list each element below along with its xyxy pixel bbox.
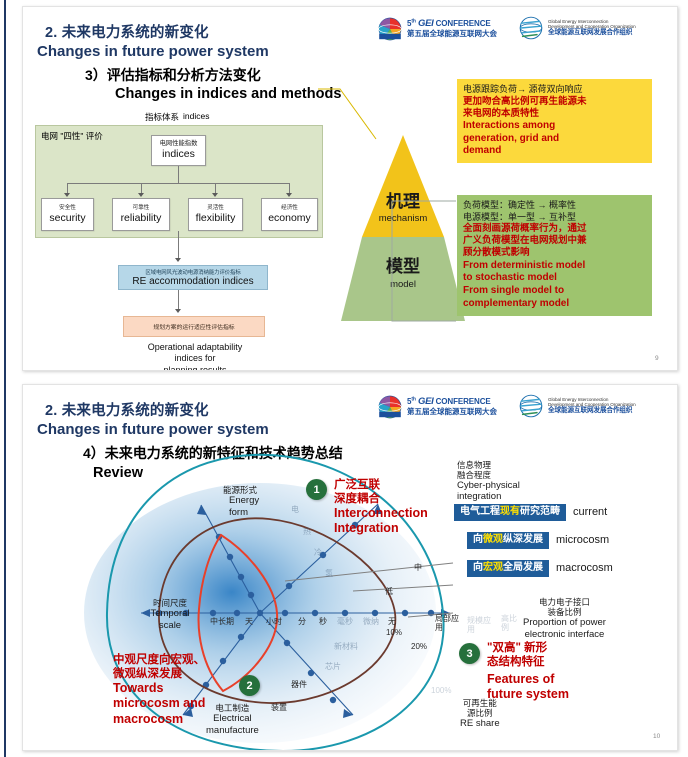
flowchart-root-cn: 电网性能指数 xyxy=(160,141,198,148)
axis-mfg-cn: 电工制造 xyxy=(206,703,259,713)
re-accommodation-cn: 区域电网风光波动电源消纳能力评价指标 xyxy=(145,268,240,276)
re-accommodation-en: RE accommodation indices xyxy=(132,276,253,287)
axis-cyber-cn: 信息物理 融合程度 xyxy=(457,460,520,480)
tick-temporal-6: 微纳 xyxy=(363,618,379,627)
child-reliability-en: reliability xyxy=(121,212,162,224)
axis-label-re-share: 可再生能 源比例 RE share xyxy=(460,698,500,730)
left-navy-rail xyxy=(4,0,6,757)
callout-top-en-2: demand xyxy=(463,145,646,158)
ann2-cn-0: 中观尺度向宏观、 xyxy=(113,653,205,667)
axis-re-en: RE share xyxy=(460,718,500,729)
ann2-cn-1: 微观纵深发展 xyxy=(113,667,205,681)
ann2-en-0: Towards xyxy=(113,681,205,696)
tick-mfg-chip: 芯片 xyxy=(325,663,341,672)
flowchart-child-security: 安全性 security xyxy=(41,198,94,231)
ann1-en-0: Interconnection xyxy=(334,506,428,521)
legend1-hl: 微观 xyxy=(483,534,503,545)
legend-chip-current: 电气工程现有研究范畴 xyxy=(454,504,566,521)
ann1-cn-0: 广泛互联 xyxy=(334,478,428,492)
axis-energy-cn: 能源形式 xyxy=(223,485,259,495)
gei-logo-line2: 第五届全球能源互联网大会 xyxy=(407,30,497,38)
slide1-title-en: Changes in future power system xyxy=(37,43,269,60)
tick-cyber-zhong: 中 xyxy=(414,564,422,573)
tick-temporal-2: 小时 xyxy=(266,618,282,627)
ann3-en-0: Features of xyxy=(487,672,569,687)
legend-chip-macrocosm: 向宏观全局发展 xyxy=(467,560,549,577)
badge-3: 3 xyxy=(459,643,480,664)
axis-pe-en: Proportion of power electronic interface xyxy=(523,617,606,640)
callout-bottom-en-2: From single model to xyxy=(463,285,646,298)
conn-bus xyxy=(67,183,289,184)
legend0-pre: 电气工程 xyxy=(460,506,500,517)
tick-mfg-device: 器件 xyxy=(291,681,307,690)
tick-pe-10: 10% xyxy=(386,629,402,638)
tick-temporal-4: 秒 xyxy=(319,618,327,627)
legend0-hl: 现有 xyxy=(500,506,520,517)
legend1-post: 纵深发展 xyxy=(503,534,543,545)
ann3-cn-0: "双高" 新形 xyxy=(487,641,569,655)
callout-bottom-green: 负荷模型：确定性 → 概率性 电源模型：单一型 → 互补型 全面刻画源荷概率行为… xyxy=(457,195,652,316)
tick-temporal-1: 天 xyxy=(245,618,253,627)
tick-temporal-5: 毫秒 xyxy=(337,618,353,627)
tick-pe-20: 20% xyxy=(411,643,427,652)
child-flexibility-en: flexibility xyxy=(196,212,236,224)
tick-mfg-equip: 装置 xyxy=(271,704,287,713)
ann3-cn-1: 态结构特征 xyxy=(487,655,569,669)
axis-pe-cn: 电力电子接口 装备比例 xyxy=(523,597,606,617)
tick-pe-high: 高比例 xyxy=(501,615,523,633)
conn-root-down xyxy=(178,166,179,183)
callout-top-cn-0: 电源跟踪负荷→ 源荷双向响应 xyxy=(463,84,646,96)
callout-bottom-red-1: 广义负荷模型在电网规划中兼 xyxy=(463,235,646,247)
legend-en-macrocosm: macrocosm xyxy=(556,562,613,574)
badge-1: 1 xyxy=(306,479,327,500)
geidco-line3: 全球能源互联网发展合作组织 xyxy=(548,29,636,36)
ann2-en-2: macrocosm xyxy=(113,712,205,727)
callout-top-en-0: Interactions among xyxy=(463,120,646,133)
callout-bottom-en-1: to stochastic model xyxy=(463,272,646,285)
tick-energy-re: 热 xyxy=(303,528,311,537)
axis-energy-en: Energy form xyxy=(229,495,259,518)
tick-energy-dian: 电 xyxy=(291,506,299,515)
axis-label-power-electronic: 电力电子接口 装备比例 Proportion of power electron… xyxy=(523,597,606,640)
ann1-cn-1: 深度耦合 xyxy=(334,492,428,506)
legend-row-microcosm: 向微观纵深发展 microcosm xyxy=(467,532,609,549)
arrow-child-4 xyxy=(286,193,292,197)
axis-temporal-en: Temporal scale xyxy=(141,608,199,631)
callout-bottom-red-0: 全面刻画源荷概率行为，通过 xyxy=(463,223,646,235)
axis-label-electrical-manufacture: 电工制造 Electrical manufacture xyxy=(206,703,259,736)
gei-globe-icon xyxy=(378,17,402,41)
arrow-child-1 xyxy=(64,193,70,197)
arrow-to-mid xyxy=(175,258,181,262)
tick-pe-local: 局部应用 xyxy=(435,615,463,633)
conn-to-bottom xyxy=(178,290,179,310)
ann1-en-1: Integration xyxy=(334,521,428,536)
callout-top-yellow: 电源跟踪负荷→ 源荷双向响应 更加吻合高比例可再生能源未 来电网的本质特性 In… xyxy=(457,79,652,163)
conn-to-mid xyxy=(178,231,179,259)
child-economy-en: economy xyxy=(268,212,311,224)
slide1-page-number: 9 xyxy=(655,355,659,362)
geidco-globe-icon xyxy=(519,16,543,40)
legend-row-macrocosm: 向宏观全局发展 macrocosm xyxy=(467,560,613,577)
badge-2: 2 xyxy=(239,675,260,696)
legend-en-microcosm: microcosm xyxy=(556,534,609,546)
flowchart-adaptability-node: 规划方案的运行适应性评估指标 xyxy=(123,316,265,337)
flowchart-re-accommodation-node: 区域电网风光波动电源消纳能力评价指标 RE accommodation indi… xyxy=(118,265,268,290)
axis-label-cyber-physical: 信息物理 融合程度 Cyber-physical integration xyxy=(457,460,520,502)
axis-mfg-en: Electrical manufacture xyxy=(206,713,259,736)
page-root: 2. 未来电力系统的新变化 Changes in future power sy… xyxy=(0,0,688,757)
tick-re-faded: 100% xyxy=(431,687,451,696)
legend2-hl: 宏观 xyxy=(483,562,503,573)
child-security-en: security xyxy=(49,212,85,224)
gei-conference-logo: 5th GEI CONFERENCE 第五届全球能源互联网大会 xyxy=(378,17,497,41)
slide2-page-number: 10 xyxy=(653,733,660,740)
tick-temporal-3: 分 xyxy=(298,618,306,627)
callout-top-red-0: 更加吻合高比例可再生能源未 xyxy=(463,96,646,108)
tick-energy-leng: 冷 xyxy=(314,549,322,558)
callout-bottom-cn-1: 电源模型：单一型 → 互补型 xyxy=(463,212,646,224)
flowchart-group-label: 电网 "四性" 评价 xyxy=(41,130,103,142)
annotation-1: 广泛互联 深度耦合 Interconnection Integration xyxy=(334,478,428,537)
slide-1: 2. 未来电力系统的新变化 Changes in future power sy… xyxy=(22,6,678,371)
axis-cyber-en: Cyber-physical integration xyxy=(457,480,520,502)
callout-bottom-en-0: From deterministic model xyxy=(463,260,646,273)
slide1-title-cn: 2. 未来电力系统的新变化 xyxy=(45,21,209,42)
flowchart-caption-en: indices xyxy=(183,111,209,121)
tick-temporal-0: 中长期 xyxy=(210,618,234,626)
flowchart-child-economy: 经济性 economy xyxy=(261,198,318,231)
flowchart-root-node: 电网性能指数 indices xyxy=(151,135,206,166)
flowchart-root-en: indices xyxy=(162,148,195,160)
arrow-to-bottom xyxy=(175,309,181,313)
slide1-subtitle-en: Changes in indices and methods xyxy=(115,86,341,102)
callout-top-red-1: 来电网的本质特性 xyxy=(463,108,646,120)
legend2-post: 全局发展 xyxy=(503,562,543,573)
adaptability-cn: 规划方案的运行适应性评估指标 xyxy=(153,322,234,331)
tick-cyber-wu: 无 xyxy=(388,618,396,627)
callout-bottom-red-2: 顾分散模式影响 xyxy=(463,247,646,259)
legend-en-current: current xyxy=(573,506,607,518)
flowchart-bottom-caption: Operational adaptability indices for pla… xyxy=(105,342,285,371)
ann3-en-1: future system xyxy=(487,687,569,702)
tick-pe-faded-a: 规模应用 xyxy=(467,617,493,635)
flowchart-child-flexibility: 灵活性 flexibility xyxy=(188,198,243,231)
flowchart-caption-cn: 指标体系 xyxy=(145,111,179,123)
geidco-logo: Global Energy Interconnection Developmen… xyxy=(519,16,636,40)
flowchart-child-reliability: 可靠性 reliability xyxy=(112,198,170,231)
annotation-2: 中观尺度向宏观、 微观纵深发展 Towards microcosm and ma… xyxy=(113,653,205,727)
axis-label-energy-form: 能源形式 Energy form xyxy=(223,485,259,518)
slide1-subtitle-cn: 3）评估指标和分析方法变化 xyxy=(85,65,261,85)
legend2-pre: 向 xyxy=(473,562,483,573)
callout-top-en-1: generation, grid and xyxy=(463,133,646,146)
arrow-child-2 xyxy=(138,193,144,197)
callout-leader-top xyxy=(318,79,468,199)
legend0-post: 研究范畴 xyxy=(520,506,560,517)
arrow-child-3 xyxy=(212,193,218,197)
tick-mfg-newmat: 新材料 xyxy=(334,643,358,652)
callout-bottom-en-3: complementary model xyxy=(463,298,646,311)
legend-row-current: 电气工程现有研究范畴 current xyxy=(454,504,607,521)
axis-label-temporal-scale: 时间尺度 Temporal scale xyxy=(141,598,199,631)
legend1-pre: 向 xyxy=(473,534,483,545)
ann2-en-1: microcosm and xyxy=(113,696,205,711)
axis-temporal-cn: 时间尺度 xyxy=(141,598,199,608)
annotation-3: "双高" 新形 态结构特征 Features of future system xyxy=(487,641,569,703)
callout-bottom-cn-0: 负荷模型：确定性 → 概率性 xyxy=(463,200,646,212)
tick-energy-qing: 氢 xyxy=(325,570,333,579)
slide-2: 2. 未来电力系统的新变化 Changes in future power sy… xyxy=(22,384,678,751)
tick-cyber-di: 低 xyxy=(385,588,393,597)
legend-chip-microcosm: 向微观纵深发展 xyxy=(467,532,549,549)
